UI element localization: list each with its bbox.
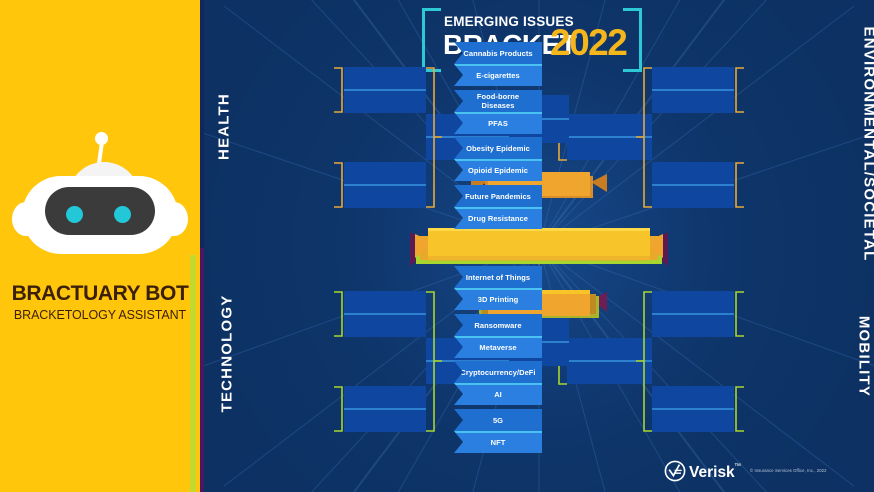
seed-pill[interactable]: Metaverse	[454, 336, 542, 358]
pill-divider	[454, 431, 542, 433]
sidebar-subtitle: BRACKETOLOGY ASSISTANT	[0, 308, 200, 322]
pill-divider	[454, 336, 542, 338]
svg-text:™: ™	[734, 463, 741, 470]
seed-pill[interactable]: E-cigarettes	[454, 64, 542, 86]
champion-banner	[410, 228, 668, 266]
pill-divider	[454, 207, 542, 209]
robot-antenna-ball	[95, 132, 108, 145]
robot-eye-right	[114, 206, 131, 223]
verisk-logo: Verisk ™	[664, 460, 754, 482]
seed-pill[interactable]: NFT	[454, 431, 542, 453]
seed-pill[interactable]: PFAS	[454, 112, 542, 134]
pill-divider	[454, 383, 542, 385]
bracket-poster: BRACTUARY BOT BRACKETOLOGY ASSISTANT	[0, 0, 874, 492]
sidebar-panel: BRACTUARY BOT BRACKETOLOGY ASSISTANT	[0, 0, 200, 492]
seed-pill[interactable]: Cryptocurrency/DeFi	[454, 361, 542, 383]
robot-visor	[45, 187, 155, 235]
seed-pill[interactable]: Internet of Things	[454, 266, 542, 288]
seed-pill[interactable]: Future Pandemics	[454, 185, 542, 207]
seed-pill[interactable]: Opioid Epidemic	[454, 159, 542, 181]
seed-pill[interactable]: Obesity Epidemic	[454, 137, 542, 159]
copyright-text: © Insurance Services Office, Inc., 2022	[750, 468, 827, 473]
robot-head-icon	[10, 130, 190, 270]
pill-divider	[454, 159, 542, 161]
seed-pill[interactable]: Ransomware	[454, 314, 542, 336]
round2-box-group-technology	[344, 291, 426, 432]
bracket-board: HEALTH TECHNOLOGY ENVIRONMENTAL/SOCIETAL…	[204, 0, 874, 492]
seed-pill[interactable]: Cannabis Products	[454, 42, 542, 64]
svg-text:Verisk: Verisk	[689, 464, 735, 481]
round2-box-group-environmental	[652, 67, 734, 208]
pill-divider	[454, 64, 542, 66]
seed-pill[interactable]: Drug Resistance	[454, 207, 542, 229]
seed-pill[interactable]: AI	[454, 383, 542, 405]
round2-box-group-health	[344, 67, 426, 208]
pill-divider	[454, 112, 542, 114]
sidebar-title: BRACTUARY BOT	[0, 282, 200, 306]
round2-box-group-mobility	[652, 291, 734, 432]
verisk-checkmark-icon	[665, 461, 684, 480]
pill-divider	[454, 288, 542, 290]
robot-eye-left	[66, 206, 83, 223]
seed-pill[interactable]: 3D Printing	[454, 288, 542, 310]
seed-pill[interactable]: 5G	[454, 409, 542, 431]
seed-pill[interactable]: Food-borne Diseases	[454, 90, 542, 112]
